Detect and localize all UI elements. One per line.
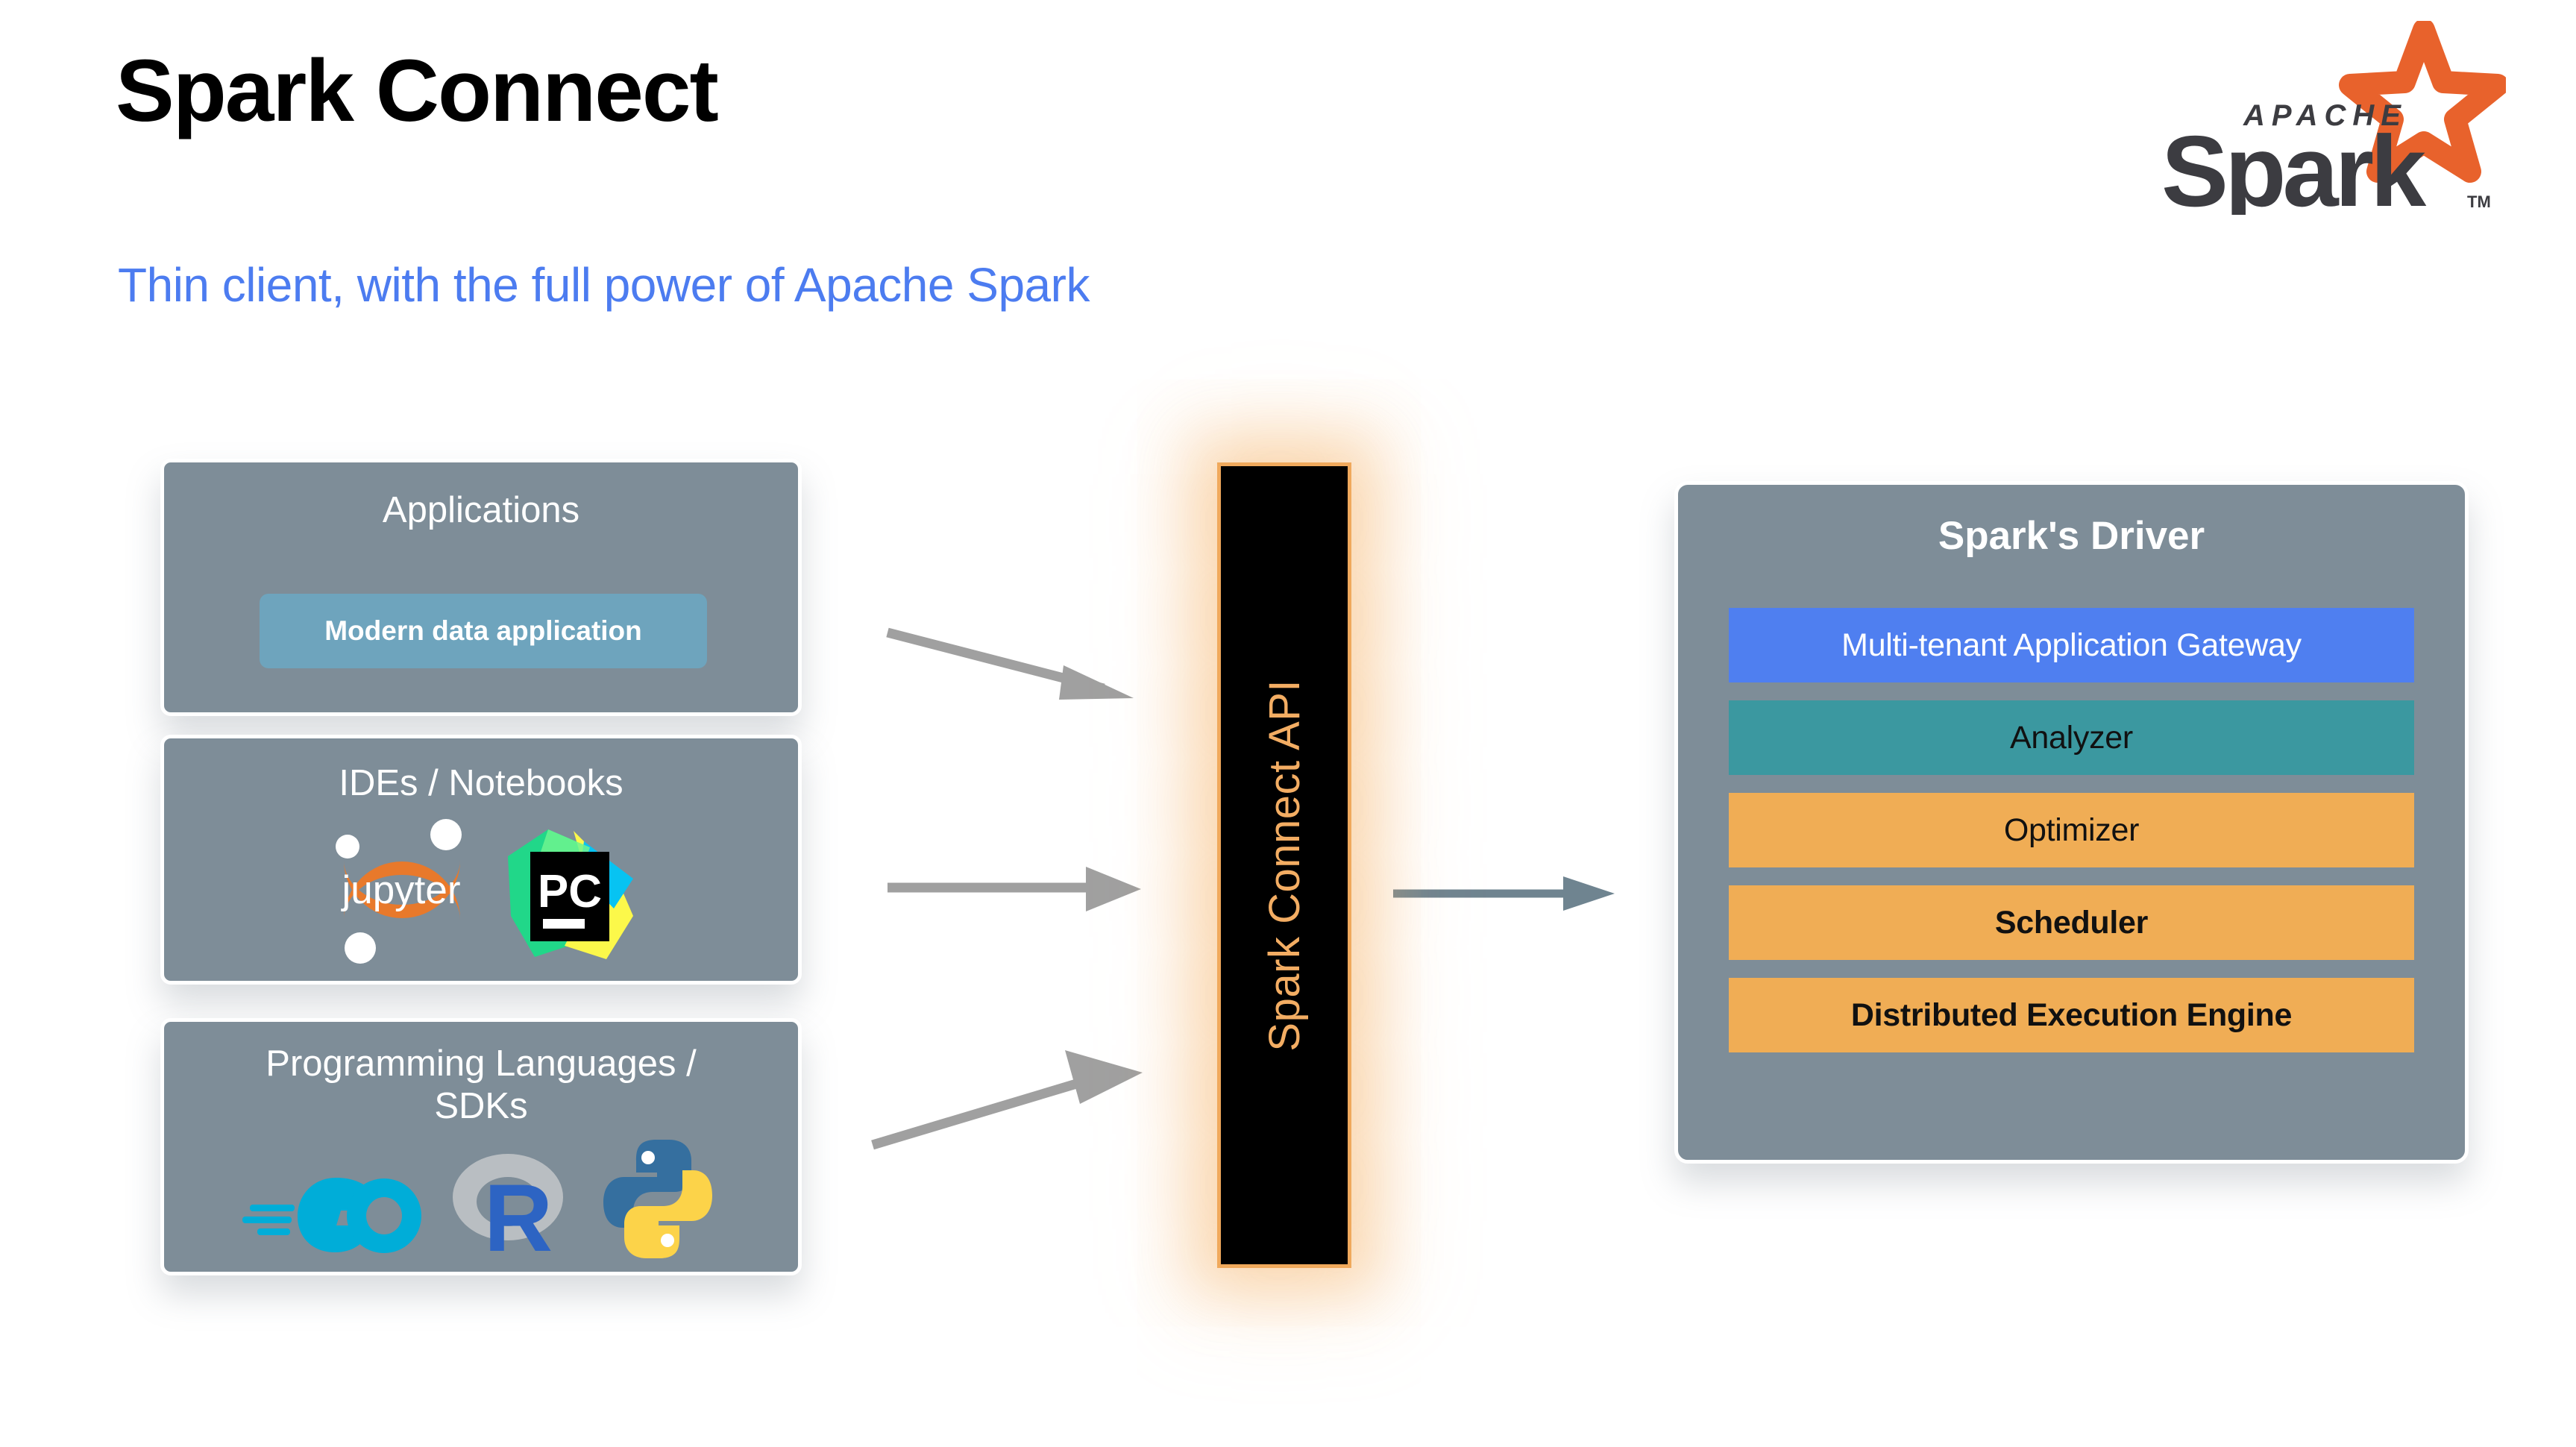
page-title: Spark Connect	[116, 43, 717, 140]
driver-row-label: Optimizer	[2004, 812, 2139, 849]
panel-languages-title-line2: SDKs	[164, 1085, 798, 1128]
driver-row[interactable]: Analyzer	[1729, 700, 2414, 775]
arrow-applications-to-api	[880, 612, 1193, 709]
spark-connect-api-label: Spark Connect API	[1260, 679, 1310, 1052]
panel-languages-title: Programming Languages / SDKs	[164, 1043, 798, 1128]
r-logo: R	[444, 1145, 578, 1264]
spark-wordmark: Spark	[2161, 115, 2427, 215]
jupyter-logo: jupyter	[323, 815, 480, 964]
panel-programming-languages[interactable]: Programming Languages / SDKs	[160, 1018, 802, 1275]
language-logo-row: R	[164, 1134, 798, 1264]
pycharm-logo: PC	[502, 826, 640, 964]
chip-modern-data-application[interactable]: Modern data application	[260, 594, 707, 668]
driver-row-label: Distributed Execution Engine	[1851, 997, 2292, 1034]
panel-sparks-driver[interactable]: Spark's Driver Multi-tenant Application …	[1674, 481, 2469, 1164]
arrow-api-to-driver	[1387, 858, 1648, 932]
panel-ides-title: IDEs / Notebooks	[164, 762, 798, 804]
pycharm-wordmark: PC	[537, 866, 601, 917]
go-logo	[241, 1160, 427, 1264]
driver-row[interactable]: Distributed Execution Engine	[1729, 978, 2414, 1052]
driver-row-label: Analyzer	[2010, 720, 2133, 756]
panel-applications[interactable]: Applications Modern data application	[160, 459, 802, 716]
trademark-mark: TM	[2467, 192, 2491, 211]
driver-row-label: Multi-tenant Application Gateway	[1841, 627, 2302, 664]
ide-logo-row: jupyter PC	[164, 815, 798, 964]
panel-applications-title: Applications	[164, 489, 798, 531]
driver-row-list: Multi-tenant Application GatewayAnalyzer…	[1729, 608, 2414, 1052]
r-wordmark: R	[484, 1165, 553, 1264]
apache-spark-logo: APACHE Spark TM	[2133, 21, 2506, 215]
arrow-ides-to-api	[880, 850, 1193, 932]
page-subtitle: Thin client, with the full power of Apac…	[118, 257, 1090, 313]
driver-row[interactable]: Optimizer	[1729, 793, 2414, 867]
driver-row[interactable]: Multi-tenant Application Gateway	[1729, 608, 2414, 682]
panel-languages-title-line1: Programming Languages /	[164, 1043, 798, 1085]
sparks-driver-title: Spark's Driver	[1678, 513, 2465, 559]
jupyter-wordmark: jupyter	[340, 868, 460, 912]
panel-ides-notebooks[interactable]: IDEs / Notebooks jupyter	[160, 735, 802, 985]
driver-row[interactable]: Scheduler	[1729, 885, 2414, 960]
slide-root: Spark Connect Thin client, with the full…	[0, 0, 2576, 1447]
driver-row-label: Scheduler	[1995, 905, 2148, 941]
spark-connect-api-bar[interactable]: Spark Connect API	[1217, 462, 1351, 1268]
python-logo	[594, 1134, 721, 1264]
arrow-languages-to-api	[865, 1037, 1193, 1164]
